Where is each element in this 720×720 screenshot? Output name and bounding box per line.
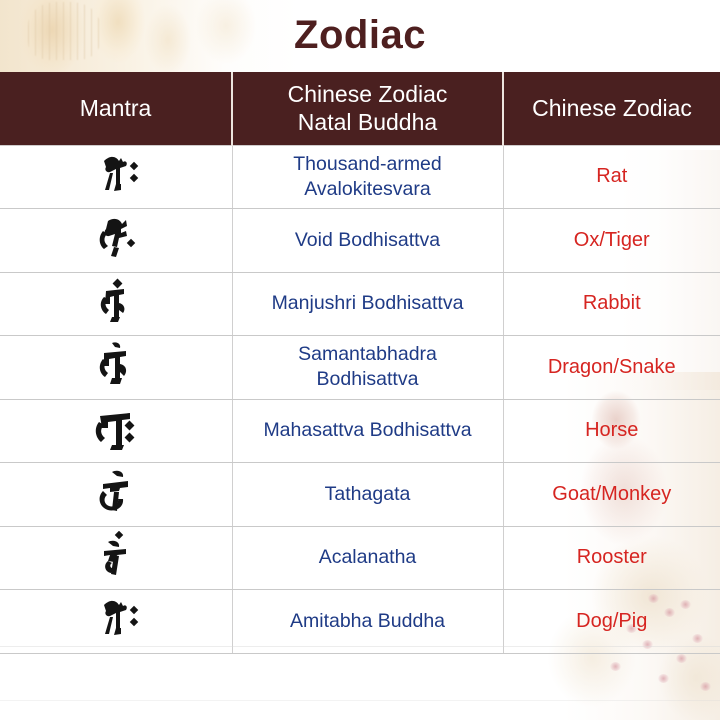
cell-chinese-zodiac: Dragon/Snake	[503, 336, 720, 400]
lotus-petal-icon	[610, 662, 621, 671]
cell-natal-buddha: Thousand-armed Avalokitesvara	[232, 145, 503, 209]
cell-chinese-zodiac: Horse	[503, 399, 720, 463]
cell-natal-buddha: Mahasattva Bodhisattva	[232, 399, 503, 463]
table-header: Mantra Chinese Zodiac Natal Buddha Chine…	[0, 72, 720, 145]
natal-buddha-line1: Thousand-armed	[293, 153, 442, 175]
zodiac-mantra-chart: Zodiac Mantra Chinese Zodiac Natal Buddh…	[0, 0, 720, 720]
natal-buddha-line2: Avalokitesvara	[304, 178, 430, 200]
cell-mantra	[0, 399, 232, 463]
cell-chinese-zodiac: Rat	[503, 145, 720, 209]
cell-mantra	[0, 336, 232, 400]
cell-natal-buddha: Samantabhadra Bodhisattva	[232, 336, 503, 400]
zodiac-table: Mantra Chinese Zodiac Natal Buddha Chine…	[0, 72, 720, 654]
cell-chinese-zodiac: Rabbit	[503, 272, 720, 336]
table-row: Samantabhadra Bodhisattva Dragon/Snake	[0, 336, 720, 400]
siddham-seed-syllable-hrih-amitabha-icon	[90, 594, 142, 642]
siddham-seed-syllable-tram-icon	[90, 213, 142, 261]
cell-mantra	[0, 209, 232, 273]
column-header-mantra: Mantra	[0, 72, 232, 145]
column-header-natal-buddha: Chinese Zodiac Natal Buddha	[232, 72, 503, 145]
title-banner: Zodiac	[0, 0, 720, 72]
table-row: Thousand-armed Avalokitesvara Rat	[0, 145, 720, 209]
cell-chinese-zodiac: Goat/Monkey	[503, 463, 720, 527]
lotus-petal-icon	[676, 654, 687, 663]
table-row: Acalanatha Rooster	[0, 526, 720, 590]
table-row: Mahasattva Bodhisattva Horse	[0, 399, 720, 463]
cell-mantra	[0, 463, 232, 527]
table-body: Thousand-armed Avalokitesvara Rat	[0, 145, 720, 653]
cell-mantra	[0, 145, 232, 209]
natal-buddha-line2: Bodhisattva	[317, 368, 419, 390]
cell-chinese-zodiac: Rooster	[503, 526, 720, 590]
table-row: Amitabha Buddha Dog/Pig	[0, 590, 720, 654]
column-header-natal-buddha-line1: Chinese Zodiac	[288, 81, 448, 107]
table-header-row: Mantra Chinese Zodiac Natal Buddha Chine…	[0, 72, 720, 145]
table-row: Tathagata Goat/Monkey	[0, 463, 720, 527]
cell-natal-buddha: Amitabha Buddha	[232, 590, 503, 654]
table-row: Manjushri Bodhisattva Rabbit	[0, 272, 720, 336]
siddham-seed-syllable-man-icon	[90, 277, 142, 325]
siddham-seed-syllable-vam-icon	[90, 467, 142, 515]
cell-mantra	[0, 590, 232, 654]
column-header-chinese-zodiac: Chinese Zodiac	[503, 72, 720, 145]
siddham-seed-syllable-sa-icon	[90, 404, 142, 452]
natal-buddha-line1: Samantabhadra	[298, 343, 437, 365]
cell-natal-buddha: Tathagata	[232, 463, 503, 527]
table-row: Void Bodhisattva Ox/Tiger	[0, 209, 720, 273]
siddham-seed-syllable-aa-icon	[90, 340, 142, 388]
siddham-seed-syllable-ham-icon	[90, 531, 142, 579]
cell-natal-buddha: Void Bodhisattva	[232, 209, 503, 273]
cell-mantra	[0, 526, 232, 590]
cell-natal-buddha: Acalanatha	[232, 526, 503, 590]
cell-mantra	[0, 272, 232, 336]
cell-natal-buddha: Manjushri Bodhisattva	[232, 272, 503, 336]
siddham-seed-syllable-hrih-icon	[90, 150, 142, 198]
lotus-petal-icon	[658, 674, 669, 683]
lotus-petal-icon	[700, 682, 711, 691]
column-header-natal-buddha-line2: Natal Buddha	[298, 109, 437, 135]
cell-chinese-zodiac: Ox/Tiger	[503, 209, 720, 273]
scan-rule-line	[0, 700, 720, 701]
page-title: Zodiac	[0, 9, 720, 61]
cell-chinese-zodiac: Dog/Pig	[503, 590, 720, 654]
